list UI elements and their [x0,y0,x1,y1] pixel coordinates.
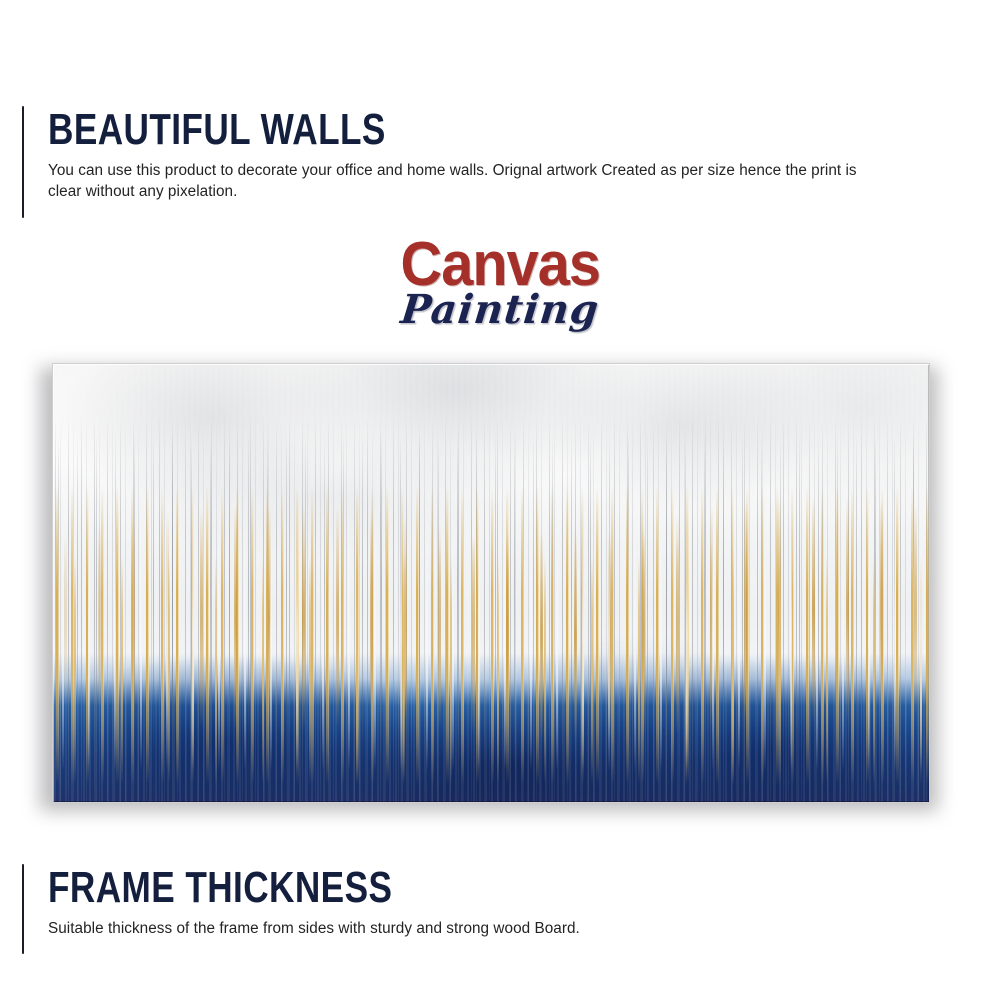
artwork-figure [52,363,930,803]
feature-accent-rule [22,106,24,218]
page-title: BEAUTIFUL WALLS [48,106,747,154]
artwork-sheen [53,364,929,802]
feature-accent-rule [22,864,24,954]
feature-text-group: BEAUTIFUL WALLS You can use this product… [48,106,922,218]
feature-description: You can use this product to decorate you… [48,160,883,202]
feature-text-group: FRAME THICKNESS Suitable thickness of th… [48,864,922,954]
brand-subtitle: Painting [0,288,1000,332]
canvas-painting-image [52,363,930,803]
section-title: FRAME THICKNESS [48,864,747,912]
feature-block-beautiful-walls: BEAUTIFUL WALLS You can use this product… [22,106,922,218]
brand-logo: Canvas Painting [0,234,1000,350]
feature-description: Suitable thickness of the frame from sid… [48,918,883,939]
product-listing-page: BEAUTIFUL WALLS You can use this product… [0,0,1000,1000]
feature-block-frame-thickness: FRAME THICKNESS Suitable thickness of th… [22,864,922,954]
